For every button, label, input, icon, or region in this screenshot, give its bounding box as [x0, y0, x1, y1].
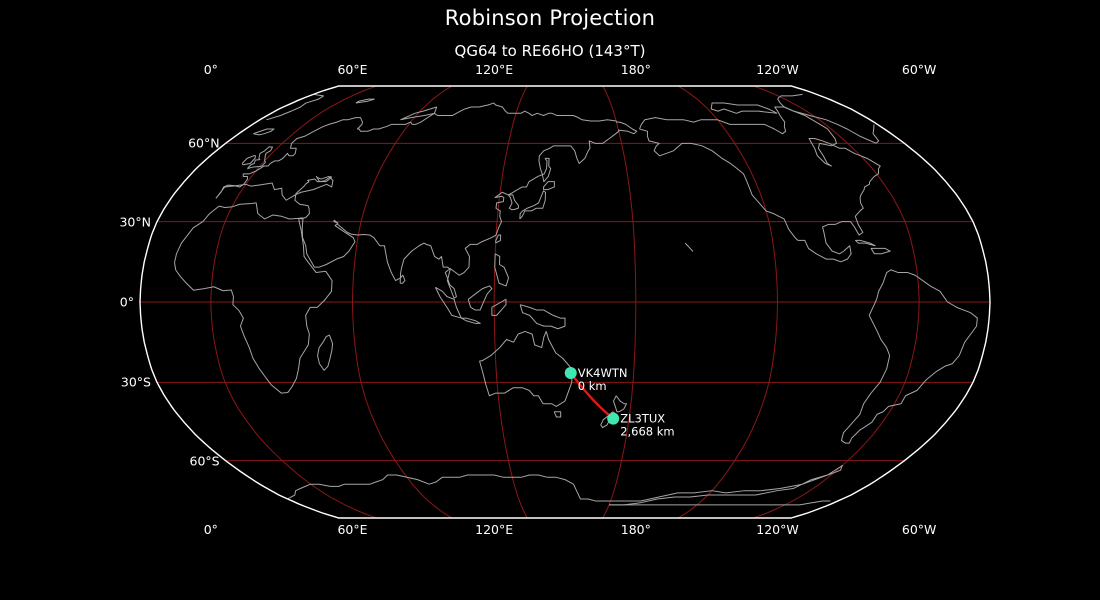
coastline-path — [856, 240, 876, 245]
lon-tick-bottom-1: 60°E — [337, 522, 367, 537]
station-markers[interactable]: VK4WTN0 kmZL3TUX2,668 km — [565, 366, 675, 439]
coastline-path — [318, 335, 333, 370]
world-map[interactable]: VK4WTN0 kmZL3TUX2,668 km — [0, 0, 1100, 600]
station-distance-label: 0 km — [578, 379, 607, 393]
coastline-path — [216, 103, 637, 298]
lon-tick-top-3: 180° — [621, 62, 651, 77]
station-marker-vk4wtn[interactable]: VK4WTN0 km — [565, 366, 628, 393]
coastline-path — [253, 129, 274, 135]
coastline-path — [435, 287, 480, 323]
coastline-path — [495, 254, 509, 286]
coastline-path — [554, 412, 561, 417]
lat-tick-1: 30°N — [107, 214, 151, 229]
coastline-path — [609, 501, 830, 505]
coastline-path — [543, 182, 554, 190]
lat-tick-4: 60°S — [176, 453, 220, 468]
lat-tick-3: 30°S — [107, 375, 151, 390]
coastline-path — [520, 305, 565, 329]
coastline-path — [288, 475, 611, 501]
lon-tick-bottom-3: 180° — [621, 522, 651, 537]
coastline-path — [873, 124, 879, 143]
lon-tick-top-2: 120°E — [475, 62, 513, 77]
coastline-path — [480, 331, 572, 406]
coastline-path — [520, 191, 546, 219]
coastline-path — [778, 94, 876, 143]
marker-dot[interactable] — [607, 413, 619, 425]
coastline-path — [175, 203, 333, 393]
coastline-path — [356, 99, 375, 103]
station-callsign-label: ZL3TUX — [620, 412, 665, 426]
lat-tick-2: 0° — [90, 295, 134, 310]
coastline-path — [685, 243, 693, 251]
coastline-path — [711, 103, 777, 113]
lat-tick-0: 60°N — [176, 136, 220, 151]
station-callsign-label: VK4WTN — [578, 366, 628, 380]
map-screenshot: Robinson Projection QG64 to RE66HO (143°… — [0, 0, 1100, 600]
station-distance-label: 2,668 km — [620, 425, 674, 439]
coastlines — [175, 94, 978, 505]
coastline-path — [609, 465, 842, 504]
coastline-path — [468, 286, 492, 310]
coastline-path — [841, 270, 977, 443]
lon-tick-bottom-0: 0° — [204, 522, 218, 537]
coastline-path — [614, 396, 627, 412]
coastline-path — [640, 107, 881, 262]
lon-tick-top-0: 0° — [204, 62, 218, 77]
coastline-path — [871, 248, 890, 253]
lon-tick-top-4: 120°W — [756, 62, 798, 77]
lon-tick-top-5: 60°W — [902, 62, 937, 77]
coastline-path — [266, 94, 323, 119]
lon-tick-bottom-5: 60°W — [902, 522, 937, 537]
lon-tick-bottom-4: 120°W — [756, 522, 798, 537]
station-marker-zl3tux[interactable]: ZL3TUX2,668 km — [607, 412, 674, 439]
lon-tick-bottom-2: 120°E — [475, 522, 513, 537]
marker-dot[interactable] — [565, 367, 577, 379]
graticule — [140, 86, 990, 518]
lon-tick-top-1: 60°E — [337, 62, 367, 77]
